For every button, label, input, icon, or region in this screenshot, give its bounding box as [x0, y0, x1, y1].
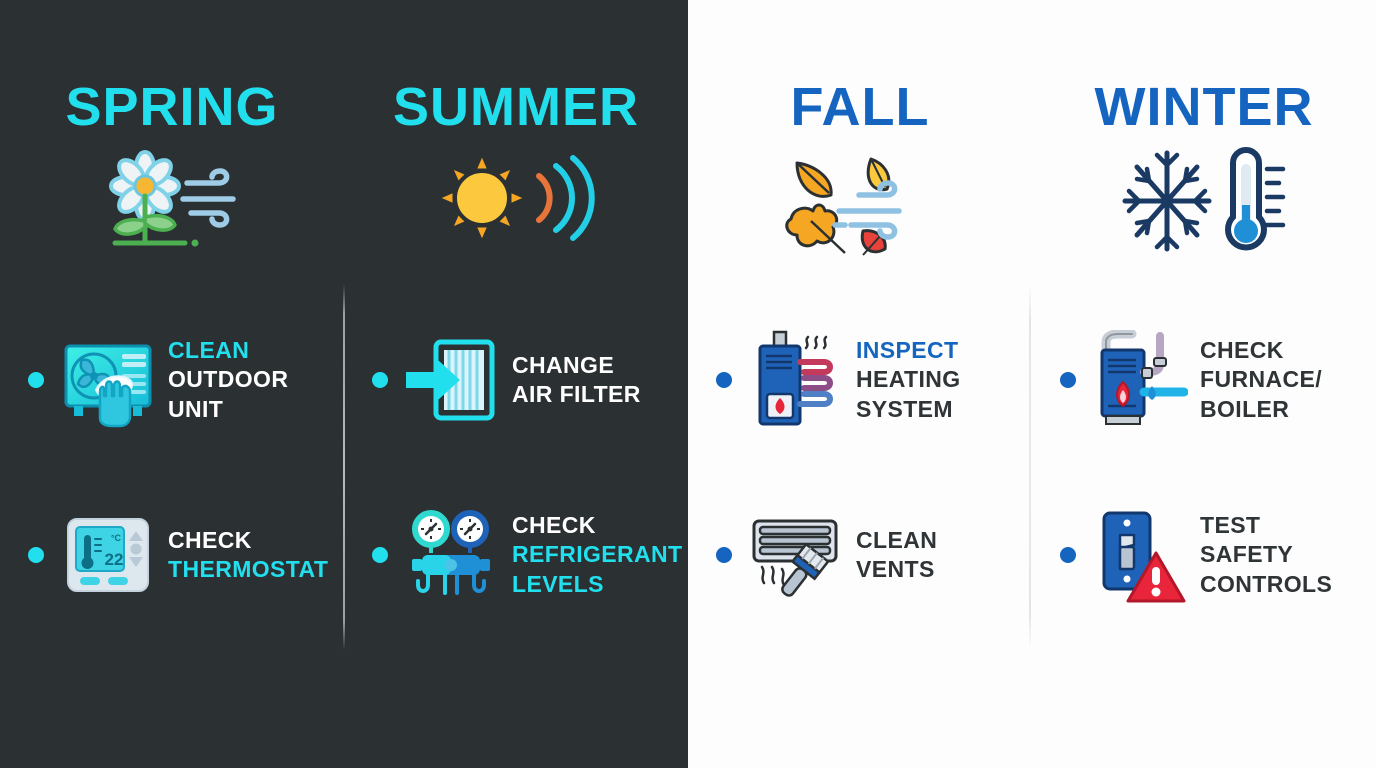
seasonal-hvac-maintenance-infographic: SPRING: [0, 0, 1376, 768]
boiler-heating-system-icon: [748, 330, 844, 430]
bullet-dot-icon: [372, 372, 388, 388]
list-item[interactable]: CHECK REFRIGERANT LEVELS: [372, 505, 688, 605]
season-column-spring: SPRING: [0, 0, 344, 768]
sun-heatwaves-icon: [344, 142, 688, 262]
bullet-dot-icon: [28, 372, 44, 388]
list-item-label: CLEAN OUTDOOR UNIT: [168, 336, 288, 424]
list-item[interactable]: TEST SAFETY CONTROLS: [1060, 505, 1376, 605]
snowflake-thermometer-icon: [1032, 142, 1376, 262]
bullet-dot-icon: [28, 547, 44, 563]
flower-wind-icon: [0, 142, 344, 262]
list-item-label: TEST SAFETY CONTROLS: [1200, 511, 1332, 599]
bullet-dot-icon: [1060, 372, 1076, 388]
vent-brush-icon: [748, 505, 844, 605]
list-item-label: INSPECT HEATING SYSTEM: [856, 336, 961, 424]
season-column-fall: FALL: [688, 0, 1032, 768]
list-item[interactable]: °C 22 CHECK THERMOSTAT: [28, 505, 344, 605]
svg-text:°C: °C: [111, 533, 122, 543]
bullet-dot-icon: [716, 547, 732, 563]
furnace-boiler-pipes-icon: [1092, 330, 1188, 430]
list-item-label: CHECK FURNACE/ BOILER: [1200, 336, 1322, 424]
safety-switch-warning-icon: [1092, 505, 1188, 605]
list-item-label: CHECK THERMOSTAT: [168, 526, 328, 585]
falling-leaves-wind-icon: [688, 142, 1032, 262]
season-title-fall: FALL: [688, 80, 1032, 134]
list-item[interactable]: INSPECT HEATING SYSTEM: [716, 330, 1032, 430]
season-title-winter: WINTER: [1032, 80, 1376, 134]
list-item-label: CLEAN VENTS: [856, 526, 937, 585]
list-item[interactable]: CHANGE AIR FILTER: [372, 330, 688, 430]
season-column-winter: WINTER: [1032, 0, 1376, 768]
list-item-label: CHANGE AIR FILTER: [512, 351, 641, 410]
svg-text:22: 22: [105, 550, 124, 569]
bullet-dot-icon: [372, 547, 388, 563]
bullet-dot-icon: [1060, 547, 1076, 563]
bullet-dot-icon: [716, 372, 732, 388]
list-item-label: CHECK REFRIGERANT LEVELS: [512, 511, 683, 599]
season-title-spring: SPRING: [0, 80, 344, 134]
list-item[interactable]: CHECK FURNACE/ BOILER: [1060, 330, 1376, 430]
air-filter-icon: [404, 330, 500, 430]
thermostat-icon: °C 22: [60, 505, 156, 605]
outdoor-unit-cleaning-icon: [60, 330, 156, 430]
list-item[interactable]: CLEAN VENTS: [716, 505, 1032, 605]
season-title-summer: SUMMER: [344, 80, 688, 134]
season-column-summer: SUMMER: [344, 0, 688, 768]
refrigerant-gauge-icon: [404, 505, 500, 605]
list-item[interactable]: CLEAN OUTDOOR UNIT: [28, 330, 344, 430]
